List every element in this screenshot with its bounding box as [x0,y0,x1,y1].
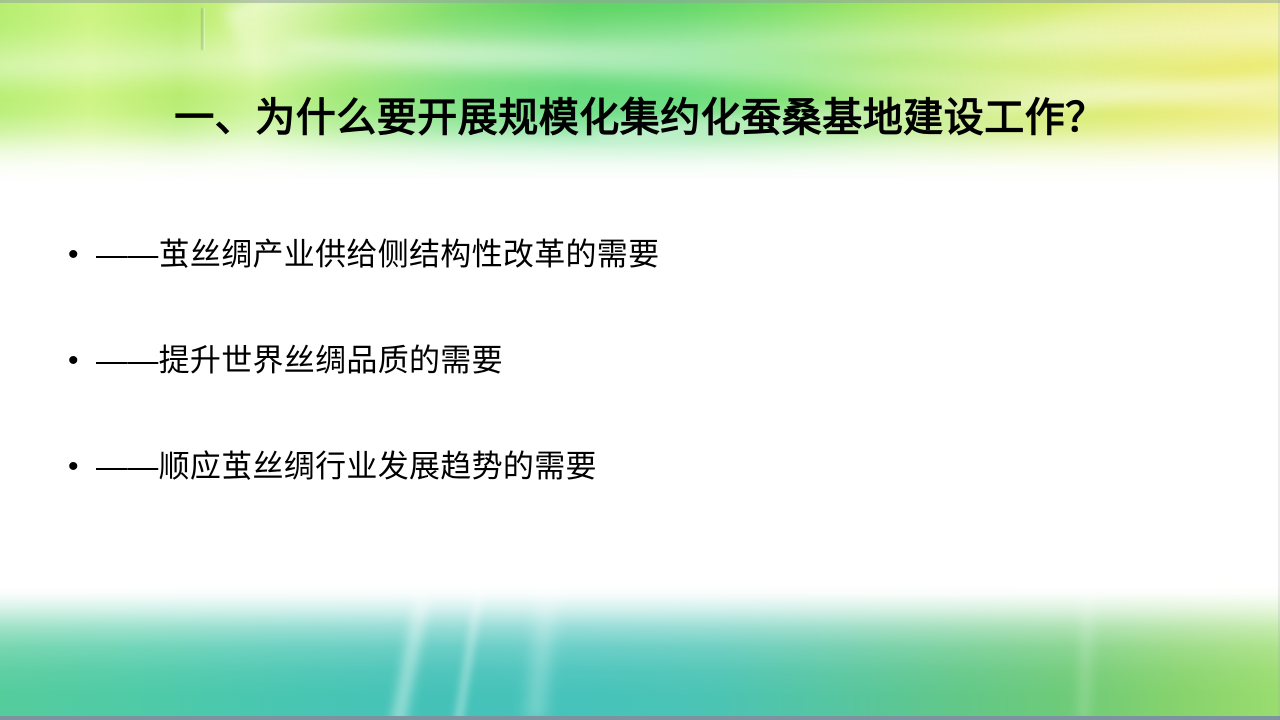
list-item-label: ——顺应茧丝绸行业发展趋势的需要 [96,446,1222,488]
list-item: • ——茧丝绸产业供给侧结构性改革的需要 [62,234,1222,340]
list-item: • ——顺应茧丝绸行业发展趋势的需要 [62,446,1222,552]
slide-body-bullet-list: • ——茧丝绸产业供给侧结构性改革的需要 • ——提升世界丝绸品质的需要 • —… [62,234,1222,552]
list-item-label: ——茧丝绸产业供给侧结构性改革的需要 [96,234,1222,276]
bullet-dot-icon: • [62,340,96,382]
list-item: • ——提升世界丝绸品质的需要 [62,340,1222,446]
bottom-decorative-band [0,586,1280,720]
slide-top-edge-line [0,0,1280,3]
bottom-band-fade-from-white [0,586,1280,720]
bullet-dot-icon: • [62,446,96,488]
slide-bottom-edge-line [0,716,1280,720]
presentation-slide: 一、为什么要开展规模化集约化蚕桑基地建设工作？ • ——茧丝绸产业供给侧结构性改… [0,0,1280,720]
bullet-dot-icon: • [62,234,96,276]
slide-title: 一、为什么要开展规模化集约化蚕桑基地建设工作？ [0,96,1280,140]
top-band-fade-to-white [0,0,1280,182]
list-item-label: ——提升世界丝绸品质的需要 [96,340,1222,382]
top-decorative-band [0,0,1280,182]
